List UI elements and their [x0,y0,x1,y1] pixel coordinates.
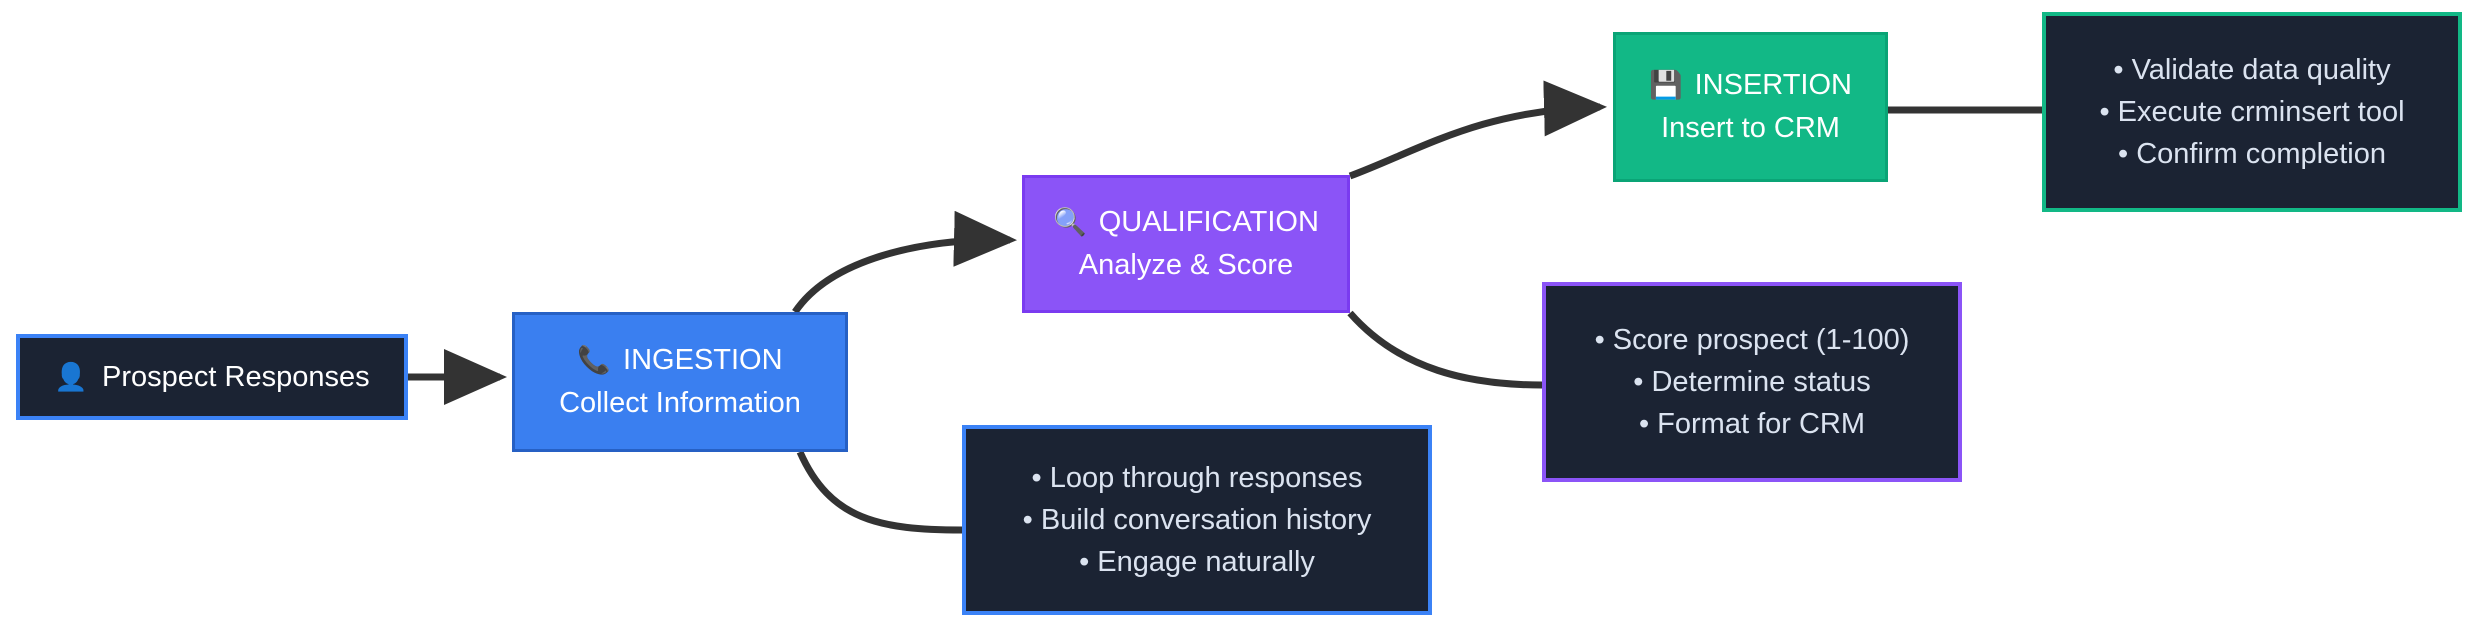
phone-icon: 📞 [577,347,611,374]
node-insertion-subtitle: Insert to CRM [1661,112,1840,145]
node-ingestion-title: INGESTION [623,344,783,377]
detail-bullet: • Execute crminsert tool [2099,91,2404,133]
node-insertion-title-row: 💾 INSERTION [1649,69,1852,102]
node-insertion-title: INSERTION [1695,69,1852,102]
detail-bullet: • Format for CRM [1639,403,1865,445]
node-qualification[interactable]: 🔍 QUALIFICATION Analyze & Score [1022,175,1350,313]
detail-box-qualification: • Score prospect (1-100) • Determine sta… [1542,282,1962,482]
detail-bullet: • Determine status [1633,361,1870,403]
floppy-disk-icon: 💾 [1649,72,1683,99]
node-prospect-responses-label: Prospect Responses [102,361,370,394]
detail-bullet: • Confirm completion [2118,133,2386,175]
person-icon: 👤 [54,364,88,391]
edge-qualification-to-details [1350,313,1542,385]
detail-bullet: • Validate data quality [2113,49,2390,91]
flowchart-canvas: 👤 Prospect Responses 📞 INGESTION Collect… [0,0,2478,628]
detail-box-ingestion: • Loop through responses • Build convers… [962,425,1432,615]
edge-ingestion-to-qualification [795,240,1010,312]
detail-bullet: • Engage naturally [1079,541,1315,583]
node-ingestion[interactable]: 📞 INGESTION Collect Information [512,312,848,452]
detail-box-insertion: • Validate data quality • Execute crmins… [2042,12,2462,212]
node-ingestion-subtitle: Collect Information [559,387,801,420]
detail-bullet: • Build conversation history [1023,499,1372,541]
edge-ingestion-to-details [800,452,962,530]
detail-bullet: • Loop through responses [1032,457,1363,499]
node-qualification-title: QUALIFICATION [1099,206,1319,239]
detail-bullet: • Score prospect (1-100) [1595,319,1910,361]
node-qualification-subtitle: Analyze & Score [1079,249,1293,282]
node-insertion[interactable]: 💾 INSERTION Insert to CRM [1613,32,1888,182]
edge-qualification-to-insertion [1350,107,1600,176]
node-prospect-responses[interactable]: 👤 Prospect Responses [16,334,408,420]
node-qualification-title-row: 🔍 QUALIFICATION [1053,206,1319,239]
node-ingestion-title-row: 📞 INGESTION [577,344,782,377]
magnifying-glass-icon: 🔍 [1053,209,1087,236]
